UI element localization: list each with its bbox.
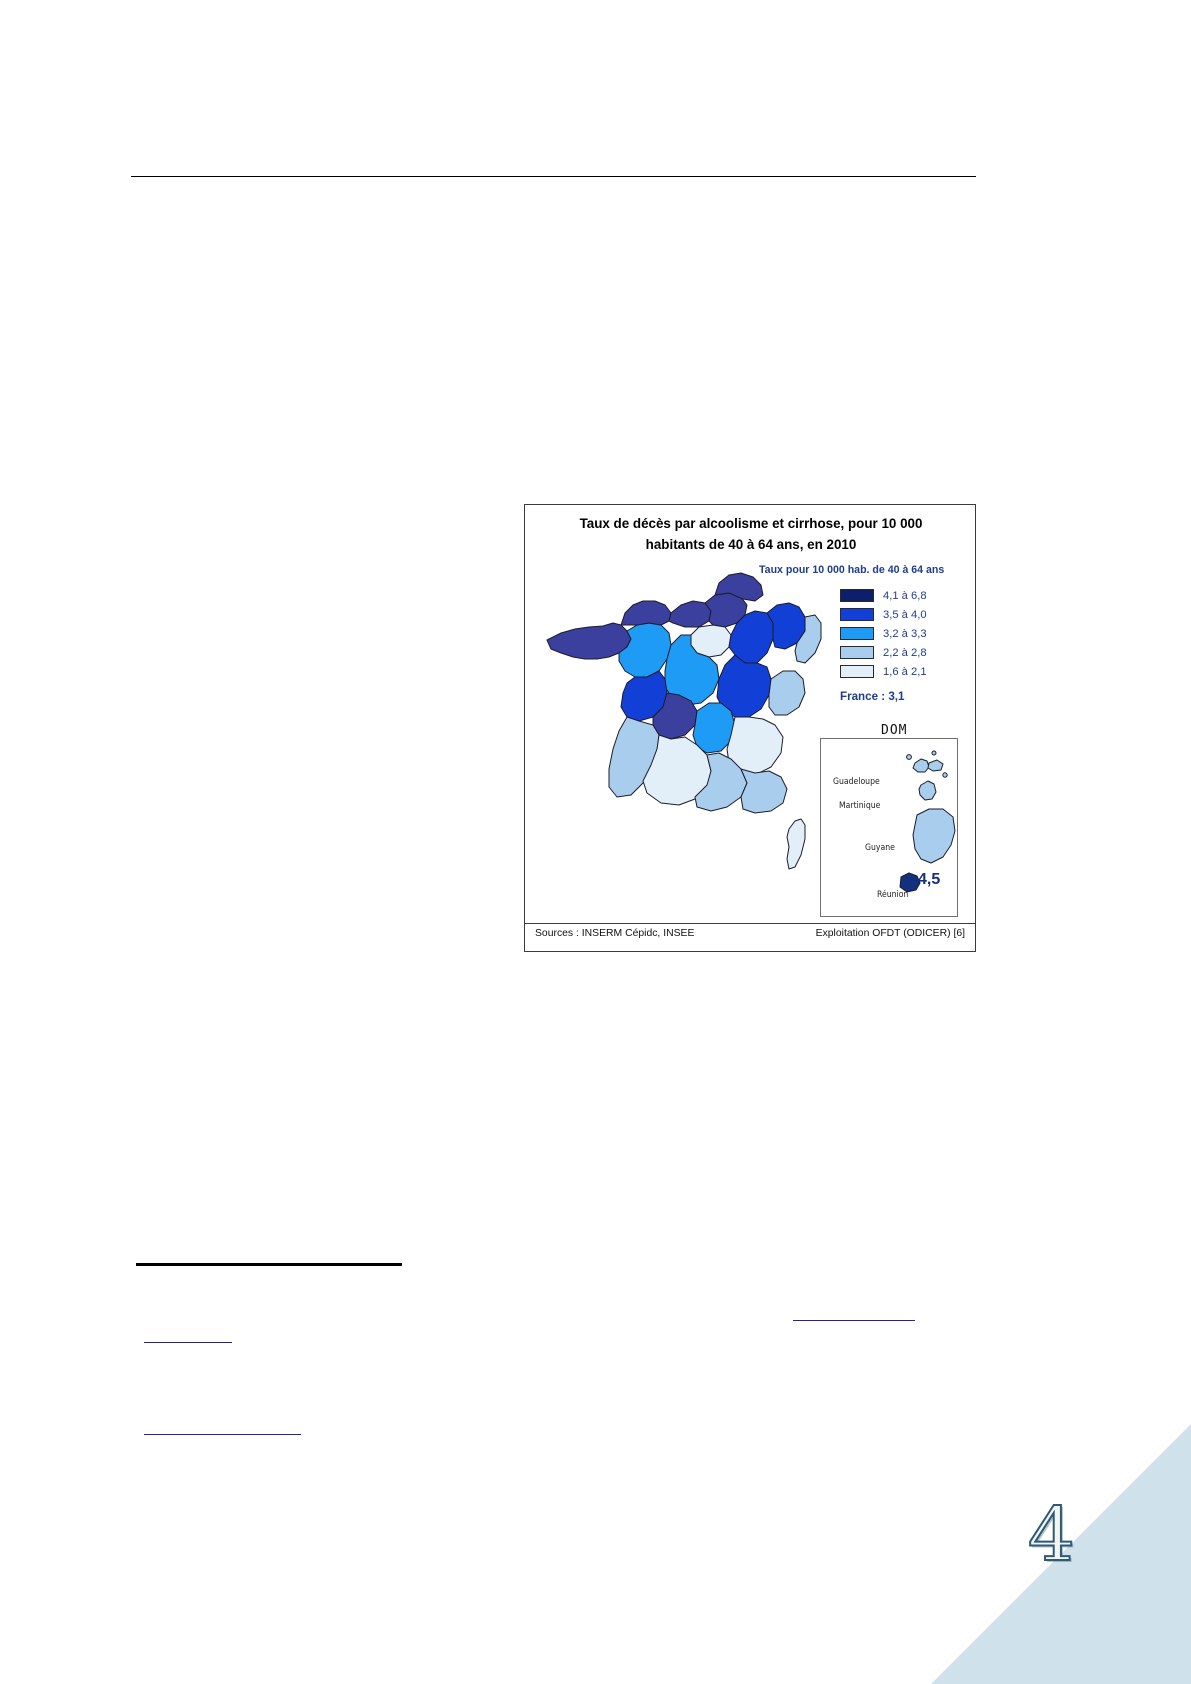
legend-label-4: 2,2 à 2,8	[883, 647, 927, 659]
legend-label-2: 3,5 à 4,0	[883, 609, 927, 621]
legend-entry[interactable]: 4,1 à 6,8	[840, 587, 971, 604]
figure-footer: Sources : INSERM Cépidc, INSEE Exploitat…	[525, 927, 975, 945]
region-basse-normandie[interactable]	[621, 601, 671, 625]
dom-label-guadeloupe: Guadeloupe	[833, 777, 880, 787]
dom-shape-islet-2	[932, 751, 936, 755]
legend-entry[interactable]: 1,6 à 2,1	[840, 663, 971, 680]
map-legend: Taux pour 10 000 hab. de 40 à 64 ans 4,1…	[759, 564, 971, 703]
hyperlink-underline-left-1[interactable]	[144, 1342, 232, 1343]
exploitation-text: Exploitation OFDT (ODICER) [6]	[816, 928, 965, 939]
figure-title-line-1: Taux de décès par alcoolisme et cirrhose…	[535, 514, 967, 535]
legend-swatch-4	[840, 646, 874, 659]
map-figure: Taux de décès par alcoolisme et cirrhose…	[524, 504, 976, 952]
dom-shape-islet-1	[907, 755, 912, 760]
legend-title: Taux pour 10 000 hab. de 40 à 64 ans	[759, 564, 971, 576]
dom-shape-islet-3	[943, 773, 947, 777]
dom-shape-guadeloupe-east[interactable]	[928, 760, 943, 771]
dom-inset-box: Guadeloupe Martinique Guyane Réunion 4,5	[820, 738, 958, 917]
figure-title-line-2: habitants de 40 à 64 ans, en 2010	[535, 535, 967, 556]
region-pays-de-la-loire[interactable]	[619, 623, 671, 677]
legend-swatch-1	[840, 589, 874, 602]
dom-value-reunion: 4,5	[918, 871, 940, 889]
hyperlink-underline-right[interactable]	[793, 1320, 915, 1321]
figure-title: Taux de décès par alcoolisme et cirrhose…	[535, 514, 967, 556]
region-provence-alpes-cote-dazur[interactable]	[741, 769, 787, 813]
dom-shape-guyane[interactable]	[913, 809, 955, 863]
page-number: 4	[1028, 1498, 1075, 1572]
region-haute-normandie[interactable]	[669, 601, 711, 627]
legend-label-5: 1,6 à 2,1	[883, 666, 927, 678]
legend-label-3: 3,2 à 3,3	[883, 628, 927, 640]
legend-entry[interactable]: 3,2 à 3,3	[840, 625, 971, 642]
region-corse[interactable]	[787, 819, 805, 869]
figure-footer-rule	[525, 923, 975, 924]
dom-label-martinique: Martinique	[839, 801, 880, 811]
dom-shape-martinique[interactable]	[919, 781, 936, 800]
sources-text: Sources : INSERM Cépidc, INSEE	[535, 928, 694, 939]
legend-entries: 4,1 à 6,8 3,5 à 4,0 3,2 à 3,3 2,2 à 2,8 …	[840, 587, 971, 680]
legend-entry[interactable]: 3,5 à 4,0	[840, 606, 971, 623]
hyperlink-underline-left-2[interactable]	[144, 1434, 301, 1435]
page-top-rule	[131, 176, 976, 177]
legend-swatch-3	[840, 627, 874, 640]
legend-swatch-5	[840, 665, 874, 678]
dom-label-guyane: Guyane	[865, 843, 895, 853]
footnote-separator-rule	[136, 1263, 402, 1266]
legend-label-1: 4,1 à 6,8	[883, 590, 927, 602]
legend-entry[interactable]: 2,2 à 2,8	[840, 644, 971, 661]
region-bretagne[interactable]	[547, 623, 631, 659]
legend-national-average: France : 3,1	[840, 690, 971, 703]
dom-label-reunion: Réunion	[877, 890, 908, 900]
dom-shape-guadeloupe[interactable]	[913, 759, 929, 772]
dom-inset-label: DOM	[881, 723, 907, 738]
legend-swatch-2	[840, 608, 874, 621]
